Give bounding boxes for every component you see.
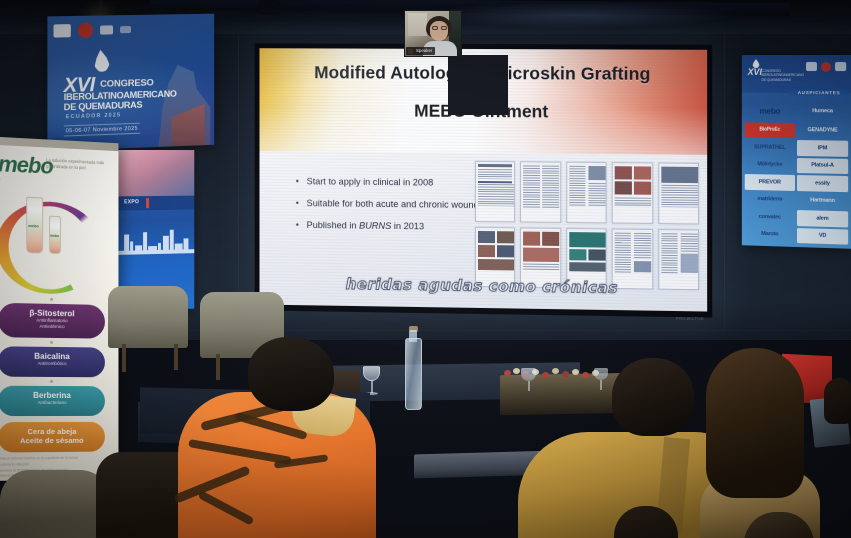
article-thumbnail: [612, 162, 653, 223]
flower: [572, 369, 579, 375]
bullet-marker: •: [296, 197, 307, 210]
attendee-long-hair-head: [706, 348, 804, 498]
article-thumbnail: [475, 161, 515, 222]
ingredient-name: Cera de abeja Aceite de sésamo: [0, 427, 105, 447]
ingredient-pill-wax-oil: Cera de abeja Aceite de sésamo: [0, 422, 105, 453]
glasses-icon: [441, 26, 447, 31]
sponsor-header-logos: [806, 62, 846, 72]
attendee-tan-jacket-head: [612, 358, 694, 436]
slide-bullet-list: • Start to apply in clinical in 2008 • S…: [296, 175, 490, 243]
sponsor-logo: convatec: [745, 209, 795, 226]
sponsor-header-subtitle: CONGRESO IBEROLATINOAMERICANO DE QUEMADU…: [761, 69, 797, 82]
wall-light-glow: [430, 2, 730, 28]
product-tube-label: mebo: [28, 223, 39, 228]
attendee-far-left: [0, 470, 110, 538]
ingredient-name: Berberina: [0, 391, 105, 400]
sponsor-banner: XVI CONGRESO IBEROLATINOAMERICANO DE QUE…: [742, 55, 851, 249]
slide-bullet-item: • Published in BURNS in 2013: [296, 219, 490, 234]
wall-seam: [724, 30, 725, 330]
chair-leg: [122, 344, 126, 372]
org-logo-icon: [78, 23, 93, 38]
org-logo-icon: [821, 62, 831, 72]
ingredient-effects: Antitrombótico: [0, 360, 105, 367]
ingredient-pill-baicalina: Baicalina Antitrombótico: [0, 346, 105, 377]
org-logo-icon: [54, 24, 71, 37]
bullet-text-pre: Published in: [307, 220, 359, 231]
decor-table: [500, 373, 630, 415]
sponsor-logo: VD: [797, 228, 848, 245]
sponsor-logo: GENADYNE: [797, 123, 848, 139]
connector-dot: [50, 341, 53, 344]
sponsor-logo-grid: mebo Humeca BioProEc GENADYNE SUPRATHEL …: [745, 101, 848, 245]
wine-glass-stem: [528, 381, 530, 391]
sponsor-header-roman: XVI: [748, 67, 762, 77]
org-logo-icon: [835, 62, 846, 71]
banner-logo-row: [54, 22, 131, 39]
screen-corner-shadow: [448, 55, 508, 115]
ingredient-effects: Antibacteriano: [0, 400, 105, 406]
bullet-marker: •: [296, 219, 307, 232]
flower: [582, 372, 589, 378]
participant-face: [430, 21, 448, 41]
banner-accent-stripe: [146, 198, 148, 208]
bullet-marker: •: [296, 175, 307, 188]
glasses-icon: [432, 26, 438, 31]
sponsors-section-title: AUSPICIANTES: [789, 87, 849, 98]
ingredient-pill-berberina: Berberina Antibacteriano: [0, 386, 105, 416]
journal-name: BURNS: [359, 221, 391, 231]
mebo-tagline: La solución experimentada más garantizad…: [46, 157, 111, 171]
sponsor-logo: PREVOR: [745, 174, 795, 191]
bullet-text: Published in BURNS in 2013: [307, 219, 490, 234]
org-logo-icon: [100, 25, 113, 34]
sponsor-logo: Platsul-A: [797, 158, 848, 175]
bullet-text: Suitable for both acute and chronic woun…: [307, 197, 490, 212]
av-equipment-label: PROJECTOR: [676, 316, 704, 321]
attendee-orange-shirt-head: [248, 337, 334, 411]
sponsor-logo: IPM: [797, 140, 848, 156]
article-thumbnail: [658, 163, 699, 224]
conference-photo-scene: XVI CONGRESO IBEROLATINOAMERICANO DE QUE…: [0, 0, 851, 538]
banner-photo-area: [118, 150, 194, 196]
chair-leg: [174, 344, 178, 370]
water-bottle: [405, 338, 422, 410]
connector-dot: [50, 298, 53, 301]
congress-name: IBEROLATINOAMERICANO DE QUEMADURAS: [64, 90, 177, 113]
flower: [513, 368, 520, 374]
spotlight-fixture-secondary: [258, 0, 281, 15]
article-thumbnail: [520, 161, 561, 222]
sponsor-logo: Maroto: [745, 226, 795, 243]
armchair: [108, 286, 188, 348]
sponsor-logo: SUPRATHEL: [745, 139, 795, 155]
ingredient-effects: Antiinflamatorio Antiedémico: [0, 317, 105, 330]
congress-banner: XVI CONGRESO IBEROLATINOAMERICANO DE QUE…: [47, 14, 214, 152]
sponsor-logo: Mölnlycke: [745, 157, 795, 173]
slide-bullet-item: • Suitable for both acute and chronic wo…: [296, 197, 490, 212]
attendee-far-right-head: [824, 378, 851, 424]
congress-word: CONGRESO: [100, 77, 154, 90]
sponsor-logo: essity: [797, 175, 848, 192]
banner-bar-text: EXPO: [124, 199, 139, 205]
slide-bullet-item: • Start to apply in clinical in 2008: [296, 175, 490, 190]
sponsor-logo: alem: [797, 210, 848, 227]
mebo-logo: mebo: [0, 151, 53, 180]
participant-name-label: Speaker: [406, 47, 435, 55]
mebo-product-banner: mebo La solución experimentada más garan…: [0, 137, 118, 481]
flower: [552, 368, 559, 374]
connector-dot: [50, 380, 53, 383]
wall-seam: [238, 34, 239, 324]
spotlight-arm: [99, 0, 103, 8]
bullet-text-post: in 2013: [391, 221, 424, 231]
org-logo-icon: [120, 26, 131, 33]
product-tube-label: mebo: [50, 234, 59, 238]
webcam-window-light: [408, 13, 427, 36]
org-logo-icon: [806, 62, 817, 71]
sponsor-logo: Humeca: [797, 101, 848, 121]
sponsor-logo: matriderm: [745, 191, 795, 208]
sponsor-logo: Hartmann: [797, 193, 848, 210]
webcam-participant-tile[interactable]: Speaker: [404, 10, 462, 57]
ingredient-pill-sitosterol: β-Sitosterol Antiinflamatorio Antiedémic…: [0, 303, 105, 339]
sponsor-logo: mebo: [745, 101, 795, 121]
bullet-text: Start to apply in clinical in 2008: [307, 175, 490, 190]
flower: [504, 370, 511, 376]
article-thumbnail-grid: [475, 161, 699, 290]
chair-leg: [216, 354, 220, 380]
article-thumbnail: [566, 162, 607, 223]
flower: [562, 371, 569, 377]
city-skyline-icon: [118, 227, 194, 255]
flower: [542, 372, 549, 378]
sponsor-logo: BioProEc: [745, 122, 795, 138]
wine-glass-stem: [600, 380, 602, 390]
shirt-pattern: [198, 490, 255, 525]
